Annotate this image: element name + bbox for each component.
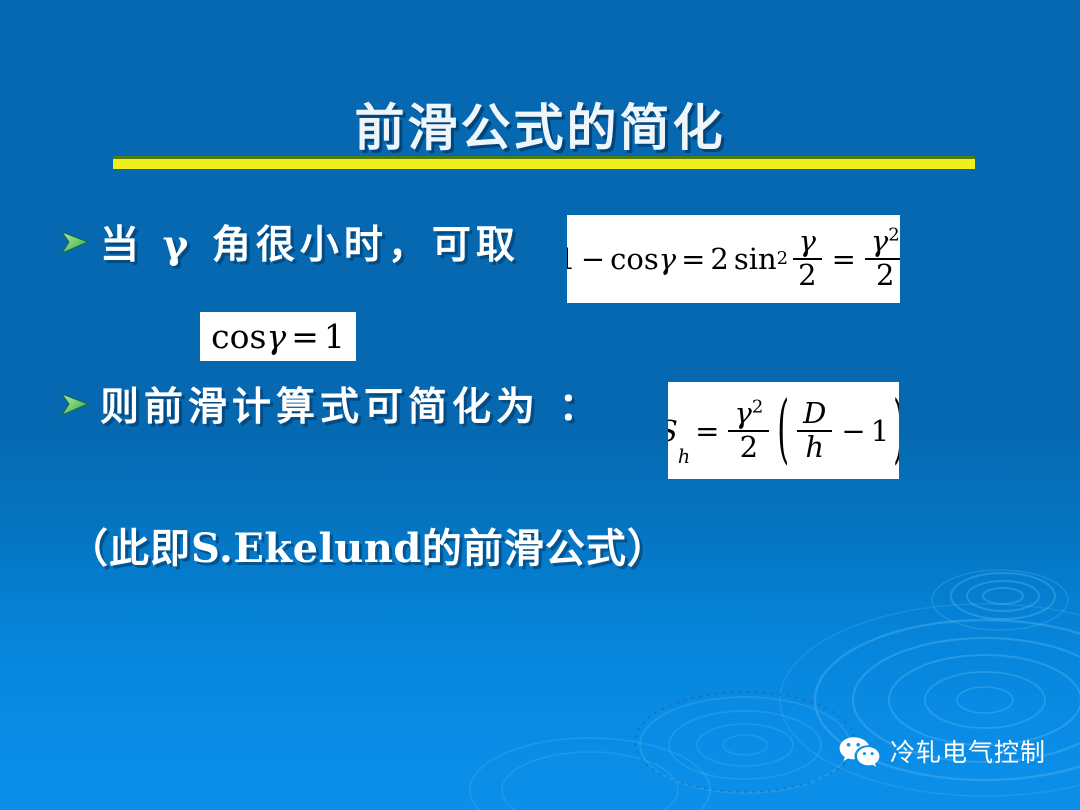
formula1-equals-2: =	[832, 242, 856, 276]
formula3-paren-open: (	[777, 388, 789, 474]
formula3-frac-num-exponent: 2	[752, 396, 763, 417]
formula3-inner-num: D	[797, 399, 832, 432]
formula1-frac1-den: 2	[792, 260, 822, 291]
formula3-frac-num: γ	[734, 396, 751, 430]
note-open-paren: （	[68, 525, 109, 572]
slide-title: 前滑公式的简化	[0, 88, 1080, 160]
formula1-frac1-num: γ	[793, 227, 822, 260]
presentation-slide: 前滑公式的简化 当 γ 角很小时，可取	[0, 0, 1080, 810]
arrow-bullet-icon	[58, 387, 92, 421]
note-line: （此即S.Ekelund的前滑公式）	[68, 516, 668, 574]
formula3-inner-den: h	[799, 432, 830, 463]
formula2-one: 1	[324, 317, 345, 356]
formula2-equals: =	[291, 317, 319, 356]
formula-one-minus-cos: 1 − cos γ = 2 sin 2 γ 2 = γ2 2	[567, 215, 900, 303]
formula3-fraction-D-over-h: D h	[797, 399, 832, 462]
arrow-bullet-icon	[58, 225, 92, 259]
formula3-one: 1	[871, 414, 889, 448]
formula3-fraction-gamma-sq-over-two: γ2 2	[728, 399, 769, 462]
formula1-one: 1	[567, 242, 576, 276]
bullet-text-2: 则前滑计算式可简化为 ：	[100, 376, 603, 432]
formula1-two: 2	[710, 242, 728, 276]
wechat-watermark-text: 冷轧电气控制	[890, 733, 1046, 769]
formula-cos-equals-one: cos γ = 1	[200, 312, 356, 361]
formula1-cos: cos	[610, 242, 659, 276]
formula3-frac-num-group: γ2	[728, 399, 769, 432]
formula1-frac2-den: 2	[870, 260, 900, 291]
note-close-paren: ）	[627, 525, 668, 572]
formula3-S: S	[668, 414, 678, 448]
wechat-logo-icon	[838, 735, 880, 767]
formula1-frac2-num-exponent: 2	[888, 225, 899, 246]
formula2-gamma: γ	[266, 317, 286, 356]
title-underline-rule	[113, 156, 975, 169]
formula1-fraction-gamma-over-two: γ 2	[792, 227, 822, 290]
formula3-frac-den: 2	[734, 432, 764, 463]
formula1-minus: −	[581, 242, 605, 276]
formula1-frac2-num-group: γ2	[865, 227, 900, 260]
formula1-frac2-num: γ	[871, 224, 888, 258]
wechat-watermark: 冷轧电气控制	[838, 733, 1046, 769]
formula1-fraction-gamma-sq-over-two: γ2 2	[865, 227, 900, 290]
formula1-equals: =	[681, 242, 705, 276]
formula-forward-slip: S h = γ2 2 ( D h − 1 )	[668, 382, 899, 479]
note-suffix: 的前滑公式	[422, 525, 627, 572]
formula3-minus: −	[841, 414, 865, 448]
formula3-subscript-h: h	[678, 445, 690, 468]
formula3-paren-close: )	[893, 388, 899, 474]
bullet-text-1: 当 γ 角很小时，可取	[100, 214, 520, 270]
note-prefix: 此即	[109, 525, 191, 572]
formula1-gamma: γ	[659, 242, 676, 276]
formula3-equals: =	[695, 414, 719, 448]
formula1-sin: sin	[734, 242, 777, 276]
formula2-cos: cos	[211, 317, 266, 356]
bullet-item-1: 当 γ 角很小时，可取	[58, 214, 520, 270]
note-latin-name: S.Ekelund	[191, 525, 422, 572]
bullet-item-2: 则前滑计算式可简化为 ：	[58, 376, 603, 432]
